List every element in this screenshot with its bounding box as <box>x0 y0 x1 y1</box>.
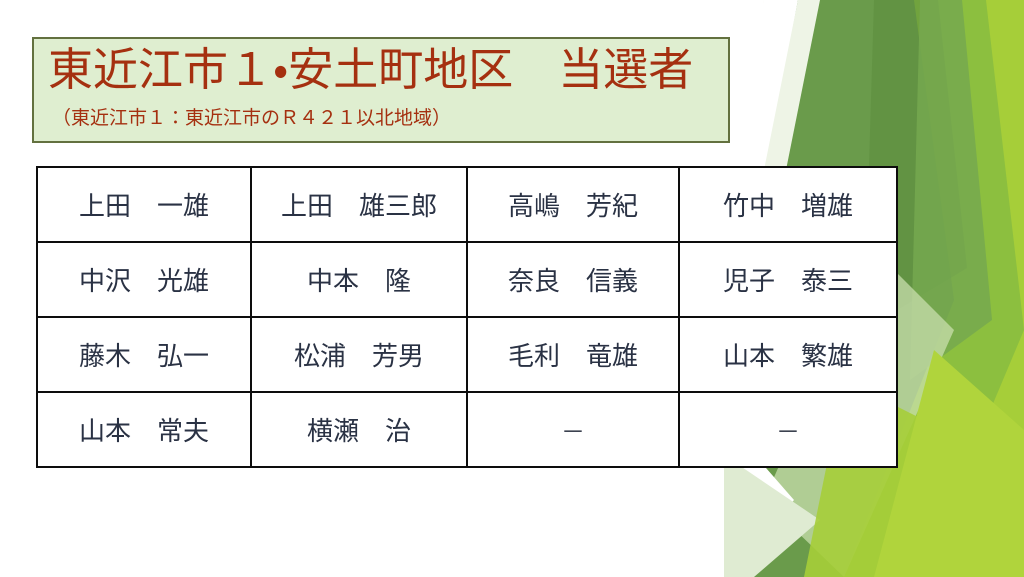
winners-table-body: 上田 一雄 上田 雄三郎 高嶋 芳紀 竹中 増雄 中沢 光雄 中本 隆 奈良 信… <box>37 167 897 467</box>
table-row: 中沢 光雄 中本 隆 奈良 信義 児子 泰三 <box>37 242 897 317</box>
winner-cell-empty: － <box>467 392 679 467</box>
winner-cell: 高嶋 芳紀 <box>467 167 679 242</box>
winner-cell: 山本 常夫 <box>37 392 251 467</box>
page-title: 東近江市１・安土町地区 当選者 <box>48 36 693 104</box>
winner-cell: 横瀬 治 <box>251 392 467 467</box>
slide-canvas: 東近江市１・安土町地区 当選者 （東近江市１：東近江市のＲ４２１以北地域） 上田… <box>0 0 1024 577</box>
winner-cell: 竹中 増雄 <box>679 167 897 242</box>
winners-table: 上田 一雄 上田 雄三郎 高嶋 芳紀 竹中 増雄 中沢 光雄 中本 隆 奈良 信… <box>36 166 898 468</box>
winner-cell: 藤木 弘一 <box>37 317 251 392</box>
winner-cell: 毛利 竜雄 <box>467 317 679 392</box>
winner-cell: 中沢 光雄 <box>37 242 251 317</box>
table-row: 藤木 弘一 松浦 芳男 毛利 竜雄 山本 繁雄 <box>37 317 897 392</box>
deco-shape-pale-bottom <box>724 455 820 577</box>
winner-cell: 上田 一雄 <box>37 167 251 242</box>
winner-cell: 奈良 信義 <box>467 242 679 317</box>
winner-cell: 上田 雄三郎 <box>251 167 467 242</box>
title-block: 東近江市１・安土町地区 当選者 （東近江市１：東近江市のＲ４２１以北地域） <box>32 37 730 143</box>
winner-cell: 松浦 芳男 <box>251 317 467 392</box>
winner-cell: 中本 隆 <box>251 242 467 317</box>
deco-shape-mid-band <box>910 0 992 380</box>
table-row: 上田 一雄 上田 雄三郎 高嶋 芳紀 竹中 増雄 <box>37 167 897 242</box>
winner-cell: 児子 泰三 <box>679 242 897 317</box>
winner-cell: 山本 繁雄 <box>679 317 897 392</box>
page-subtitle: （東近江市１：東近江市のＲ４２１以北地域） <box>52 105 451 133</box>
table-row: 山本 常夫 横瀬 治 － － <box>37 392 897 467</box>
winner-cell-empty: － <box>679 392 897 467</box>
